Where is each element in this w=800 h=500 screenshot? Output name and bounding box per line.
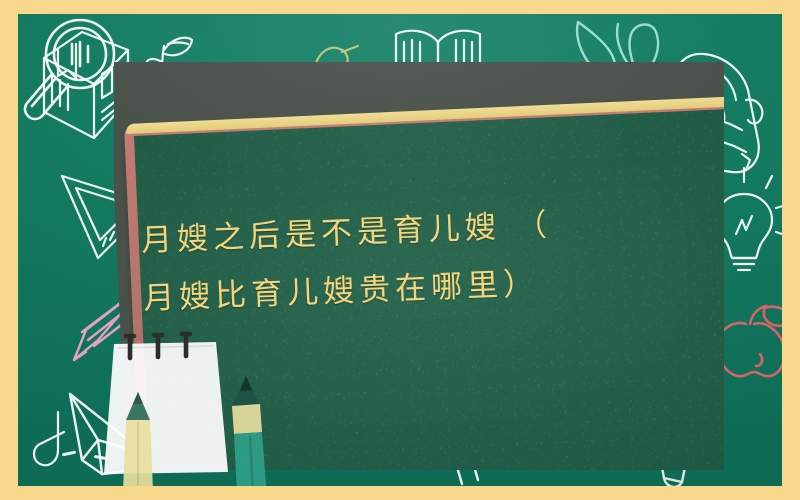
magnifying-glass-doodle <box>18 14 128 124</box>
title-card: 月嫂之后是不是育儿嫂 （ 月嫂比育儿嫂贵在哪里） <box>0 0 800 500</box>
paperclip-doodle <box>24 406 80 476</box>
teal-background-panel: 月嫂之后是不是育儿嫂 （ 月嫂比育儿嫂贵在哪里） <box>18 14 782 486</box>
yellow-pencil <box>116 386 166 486</box>
chalk-dash <box>62 451 76 457</box>
teal-pencil <box>216 372 272 486</box>
title-text-block: 月嫂之后是不是育儿嫂 （ 月嫂比育儿嫂贵在哪里） <box>140 189 724 328</box>
